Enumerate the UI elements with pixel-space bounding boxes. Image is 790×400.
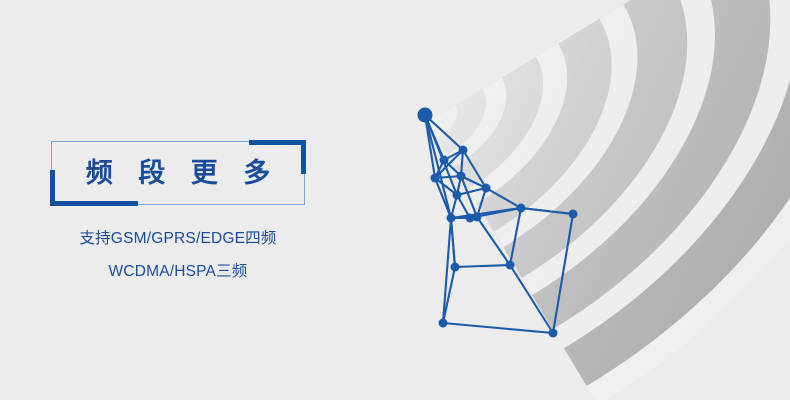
graph-nodes <box>418 108 578 338</box>
graph-node <box>569 210 578 219</box>
graph-node <box>451 263 460 272</box>
graph-node <box>418 108 433 123</box>
page-title: 频 段 更 多 <box>51 141 305 205</box>
graph-edge <box>477 217 510 265</box>
graph-node <box>439 319 448 328</box>
graph-edge <box>553 214 573 333</box>
graph-node <box>506 261 515 270</box>
graph-node <box>549 329 558 338</box>
graph-edge <box>455 265 510 267</box>
graph-node <box>453 191 462 200</box>
promo-banner: 频 段 更 多 支持GSM/GPRS/EDGE四频 WCDMA/HSPA三频 <box>0 0 790 400</box>
text-block: 频 段 更 多 支持GSM/GPRS/EDGE四频 WCDMA/HSPA三频 <box>0 0 360 400</box>
graph-node <box>447 214 456 223</box>
subtitle-line-1: 支持GSM/GPRS/EDGE四频 <box>0 226 356 248</box>
graph-edge <box>521 208 573 214</box>
graph-node <box>440 156 449 165</box>
graph-edge <box>510 208 521 265</box>
graph-edges <box>425 115 573 333</box>
graph-edge <box>443 323 553 333</box>
graph-edge <box>510 265 553 333</box>
subtitle-line-2: WCDMA/HSPA三频 <box>0 259 356 281</box>
graph-edge <box>486 188 521 208</box>
graph-node <box>466 214 475 223</box>
graph-edge <box>451 218 455 267</box>
graph-node <box>482 184 491 193</box>
graph-node <box>457 172 466 181</box>
graph-node <box>459 146 468 155</box>
graph-node <box>431 174 440 183</box>
graph-edge <box>451 208 521 218</box>
graph-node <box>517 204 526 213</box>
